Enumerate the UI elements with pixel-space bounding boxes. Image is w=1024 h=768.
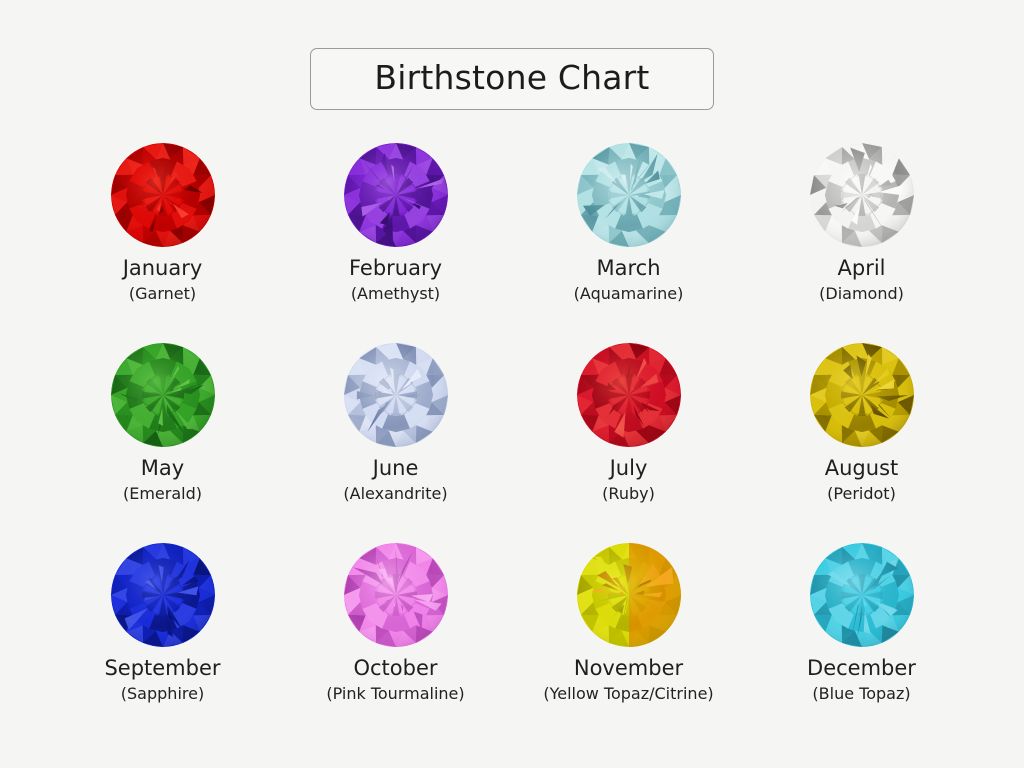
gem-citrine-icon	[576, 542, 682, 648]
birthstone-cell-february: February(Amethyst)	[279, 142, 512, 342]
birthstone-cell-may: May(Emerald)	[46, 342, 279, 542]
month-label: September	[104, 657, 220, 681]
birthstone-cell-november: November(Yellow Topaz/Citrine)	[512, 542, 745, 742]
birthstone-cell-march: March(Aquamarine)	[512, 142, 745, 342]
stone-label: (Garnet)	[129, 284, 196, 303]
title-box: Birthstone Chart	[310, 48, 714, 110]
birthstone-cell-october: October(Pink Tourmaline)	[279, 542, 512, 742]
stone-label: (Blue Topaz)	[812, 684, 910, 703]
stone-label: (Amethyst)	[351, 284, 440, 303]
month-label: June	[373, 457, 419, 481]
birthstone-grid: January(Garnet)February(Amethyst)March(A…	[46, 142, 978, 742]
stone-label: (Emerald)	[123, 484, 202, 503]
gem-sapphire-icon	[110, 542, 216, 648]
birthstone-cell-april: April(Diamond)	[745, 142, 978, 342]
month-label: December	[807, 657, 916, 681]
gem-emerald-icon	[110, 342, 216, 448]
stone-label: (Yellow Topaz/Citrine)	[543, 684, 713, 703]
birthstone-cell-january: January(Garnet)	[46, 142, 279, 342]
month-label: January	[123, 257, 203, 281]
month-label: April	[838, 257, 886, 281]
stone-label: (Sapphire)	[121, 684, 204, 703]
birthstone-cell-july: July(Ruby)	[512, 342, 745, 542]
gem-aquamarine-icon	[576, 142, 682, 248]
gem-amethyst-icon	[343, 142, 449, 248]
stone-label: (Aquamarine)	[574, 284, 684, 303]
gem-garnet-icon	[110, 142, 216, 248]
birthstone-cell-august: August(Peridot)	[745, 342, 978, 542]
month-label: March	[596, 257, 660, 281]
page-title: Birthstone Chart	[355, 61, 669, 94]
month-label: July	[610, 457, 648, 481]
month-label: November	[574, 657, 683, 681]
birthstone-cell-june: June(Alexandrite)	[279, 342, 512, 542]
title-container: Birthstone Chart	[0, 48, 1024, 110]
birthstone-chart-page: Birthstone Chart January(Garnet)February…	[0, 0, 1024, 768]
gem-peridot-icon	[809, 342, 915, 448]
month-label: August	[825, 457, 899, 481]
stone-label: (Alexandrite)	[343, 484, 447, 503]
birthstone-cell-december: December(Blue Topaz)	[745, 542, 978, 742]
gem-ruby-icon	[576, 342, 682, 448]
stone-label: (Pink Tourmaline)	[326, 684, 464, 703]
month-label: May	[141, 457, 184, 481]
stone-label: (Peridot)	[827, 484, 896, 503]
gem-alexandrite-icon	[343, 342, 449, 448]
stone-label: (Diamond)	[819, 284, 904, 303]
gem-blue-topaz-icon	[809, 542, 915, 648]
month-label: October	[353, 657, 437, 681]
stone-label: (Ruby)	[602, 484, 655, 503]
gem-diamond-icon	[809, 142, 915, 248]
gem-pink-tourmaline-icon	[343, 542, 449, 648]
birthstone-cell-september: September(Sapphire)	[46, 542, 279, 742]
month-label: February	[349, 257, 442, 281]
